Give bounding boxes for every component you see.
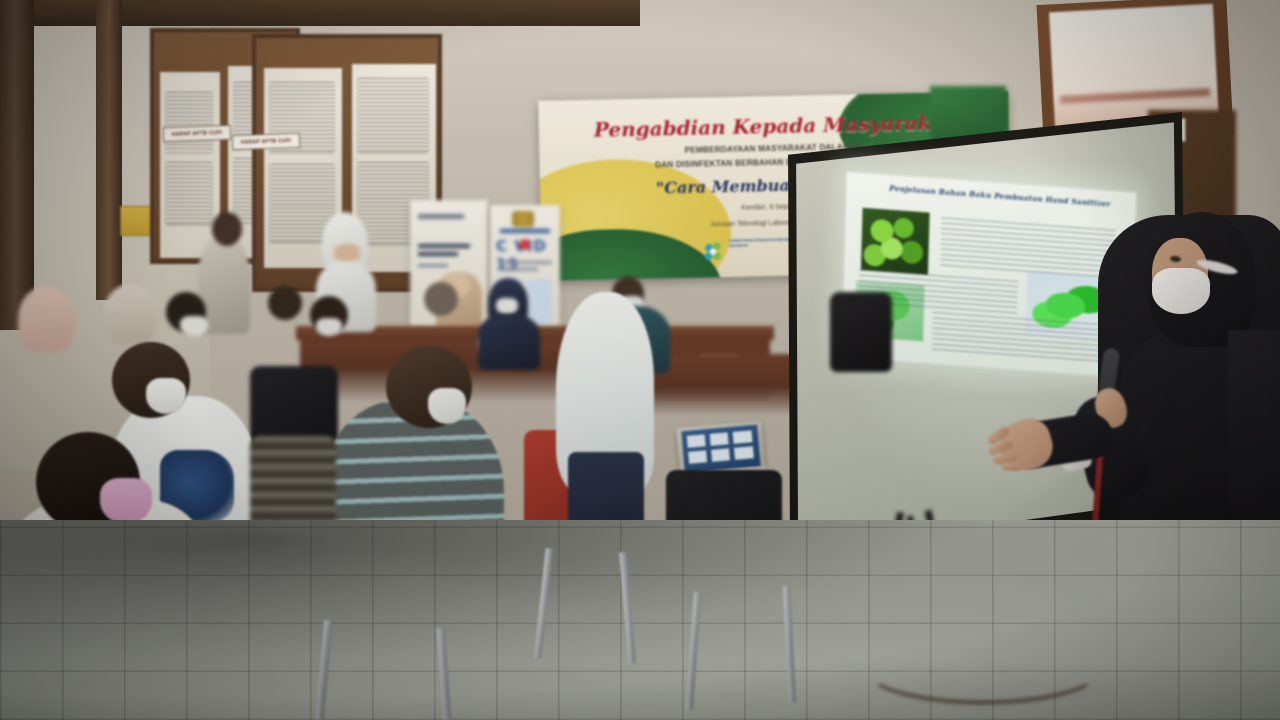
attendee-white-tshirt-mask xyxy=(146,378,186,414)
presentation-room-photo: HARAP APTB CUPI HARAP APTB CUPI Pengabdi… xyxy=(0,0,1280,720)
wall-post-second xyxy=(96,0,122,300)
chair-black-far xyxy=(830,292,892,372)
attendee-pink-hijab xyxy=(18,286,74,352)
attendee-back-1 xyxy=(424,282,458,316)
attendee-back-2 xyxy=(268,286,302,320)
notice-sign-2: HARAP APTB CUPI xyxy=(232,133,300,150)
slide-paragraph-1 xyxy=(940,217,1115,282)
presenter-face-mask xyxy=(1152,268,1210,314)
attendee-navy-hijab-mask xyxy=(496,298,518,315)
notice-sign-1: HARAP APTB CUPI xyxy=(163,125,231,142)
floor-cable xyxy=(860,628,1106,704)
slide-image-lime xyxy=(861,208,929,274)
attendee-striped-polo-mask xyxy=(428,388,466,424)
virus-icon xyxy=(519,239,530,250)
attendee-back-4-mask xyxy=(180,316,208,336)
attendee-back-3-mask xyxy=(316,318,342,336)
kemenkes-logo xyxy=(701,239,728,266)
wall-post-left xyxy=(0,0,34,330)
attendee-standing-head xyxy=(212,212,242,246)
attendee-white-hijab-face xyxy=(334,244,360,262)
attendee-cream-hijab xyxy=(104,284,156,344)
floor-shadow xyxy=(0,520,1280,720)
laptop-screen[interactable] xyxy=(681,425,760,473)
attendee-floral-pink-mask xyxy=(100,478,152,524)
attendee-navy-hijab-torso xyxy=(478,314,540,370)
